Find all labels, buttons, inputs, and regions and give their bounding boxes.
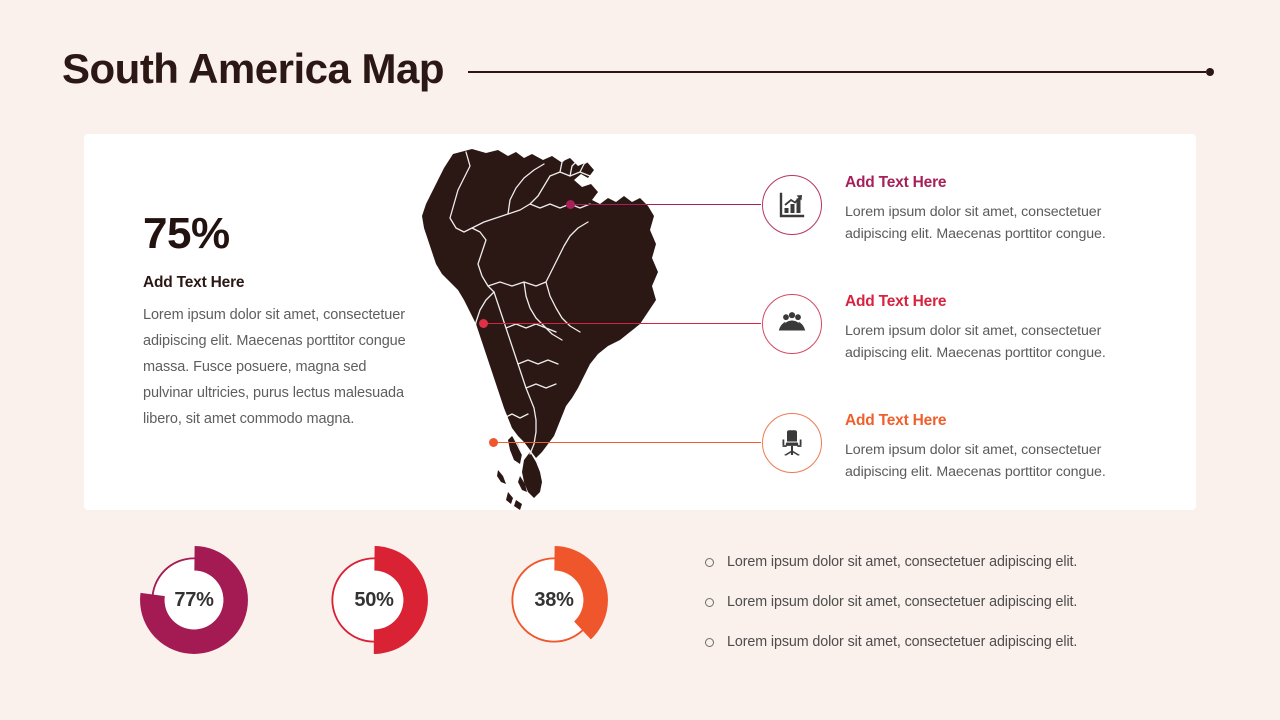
connector-line-2 [484,323,761,324]
feature-icon-circle-3[interactable] [762,413,822,473]
feature-item-1[interactable]: Add Text Here Lorem ipsum dolor sit amet… [762,175,1162,235]
connector-line-1 [571,204,761,205]
bullet-text: Lorem ipsum dolor sit amet, consectetuer… [727,632,1077,652]
feature-item-3[interactable]: Add Text Here Lorem ipsum dolor sit amet… [762,413,1162,473]
people-group-icon [778,311,806,337]
feature-desc-2: Lorem ipsum dolor sit amet, consectetuer… [845,320,1155,364]
feature-text-3: Add Text Here Lorem ipsum dolor sit amet… [845,412,1155,483]
feature-text-1: Add Text Here Lorem ipsum dolor sit amet… [845,174,1155,245]
title-rule-end-dot [1206,68,1214,76]
list-item: Lorem ipsum dolor sit amet, consectetuer… [705,592,1165,612]
feature-desc-1: Lorem ipsum dolor sit amet, consectetuer… [845,201,1155,245]
stat-heading: Add Text Here [143,274,408,292]
connector-dot-3 [489,438,498,447]
feature-item-2[interactable]: Add Text Here Lorem ipsum dolor sit amet… [762,294,1162,354]
title-divider [468,67,1214,77]
connector-line-3 [494,442,761,443]
donut-chart-1: 77% [139,545,249,655]
feature-title-3: Add Text Here [845,412,1155,431]
feature-icon-circle-2[interactable] [762,294,822,354]
south-america-map[interactable] [412,140,682,510]
donut-label-1: 77% [139,545,249,655]
connector-dot-2 [479,319,488,328]
page-title: South America Map [62,48,444,90]
bullet-marker-icon [705,638,714,647]
bullet-text: Lorem ipsum dolor sit amet, consectetuer… [727,592,1077,612]
stat-value: 75% [143,210,408,258]
office-chair-icon [778,429,806,457]
feature-desc-3: Lorem ipsum dolor sit amet, consectetuer… [845,439,1155,483]
stat-description: Lorem ipsum dolor sit amet, consectetuer… [143,303,408,432]
title-rule-line [468,71,1206,73]
connector-dot-1 [566,200,575,209]
feature-text-2: Add Text Here Lorem ipsum dolor sit amet… [845,293,1155,364]
feature-title-2: Add Text Here [845,293,1155,312]
bar-chart-growth-icon [778,191,806,219]
stat-block: 75% Add Text Here Lorem ipsum dolor sit … [143,210,408,432]
bullet-list: Lorem ipsum dolor sit amet, consectetuer… [705,552,1165,672]
bullet-marker-icon [705,598,714,607]
donut-chart-2: 50% [319,545,429,655]
page-header: South America Map [0,38,1280,100]
feature-title-1: Add Text Here [845,174,1155,193]
donut-chart-3: 38% [499,545,609,655]
list-item: Lorem ipsum dolor sit amet, consectetuer… [705,552,1165,572]
donut-label-3: 38% [499,545,609,655]
bullet-marker-icon [705,558,714,567]
feature-icon-circle-1[interactable] [762,175,822,235]
donut-label-2: 50% [319,545,429,655]
list-item: Lorem ipsum dolor sit amet, consectetuer… [705,632,1165,652]
bullet-text: Lorem ipsum dolor sit amet, consectetuer… [727,552,1077,572]
